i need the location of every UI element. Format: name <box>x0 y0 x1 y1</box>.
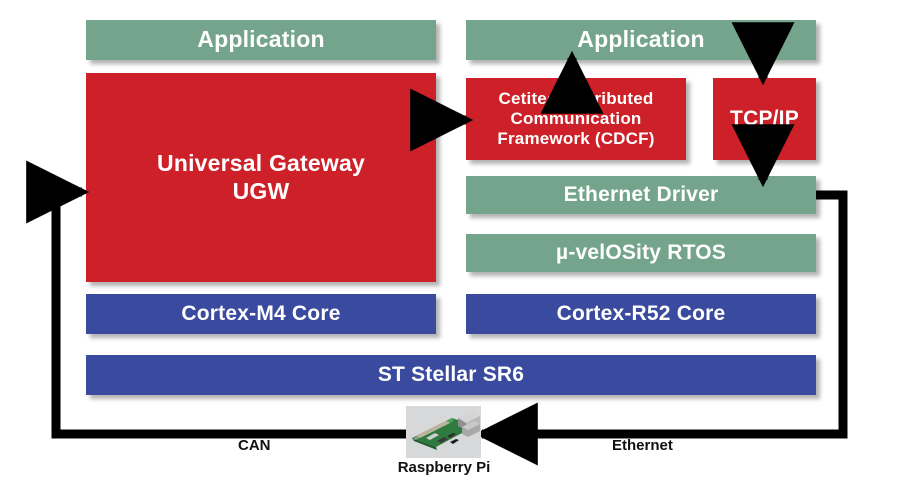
block-ethernet-driver: Ethernet Driver <box>466 176 816 214</box>
raspberry-pi-caption: Raspberry Pi <box>380 459 508 476</box>
bus-label-ethernet: Ethernet <box>612 437 673 454</box>
block-cortex-m4-core: Cortex-M4 Core <box>86 294 436 334</box>
cdcf-line2: Communication <box>510 109 641 129</box>
block-cortex-r52-core: Cortex-R52 Core <box>466 294 816 334</box>
architecture-diagram: Application Universal Gateway UGW Cortex… <box>0 0 900 487</box>
bus-label-can: CAN <box>238 437 271 454</box>
universal-gateway-line1: Universal Gateway <box>157 150 365 177</box>
raspberry-pi-image <box>406 406 481 458</box>
block-universal-gateway: Universal Gateway UGW <box>86 73 436 282</box>
block-st-stellar-sr6: ST Stellar SR6 <box>86 355 816 395</box>
cdcf-line1: Cetitec Distributed <box>499 89 654 109</box>
universal-gateway-line2: UGW <box>233 178 290 205</box>
cdcf-line3: Framework (CDCF) <box>497 129 654 149</box>
block-cdcf: Cetitec Distributed Communication Framew… <box>466 78 686 160</box>
raspberry-pi-board-photo <box>406 406 481 458</box>
block-tcpip: TCP/IP <box>713 78 816 160</box>
block-rtos: µ-velOSity RTOS <box>466 234 816 272</box>
block-left-application: Application <box>86 20 436 60</box>
block-right-application: Application <box>466 20 816 60</box>
